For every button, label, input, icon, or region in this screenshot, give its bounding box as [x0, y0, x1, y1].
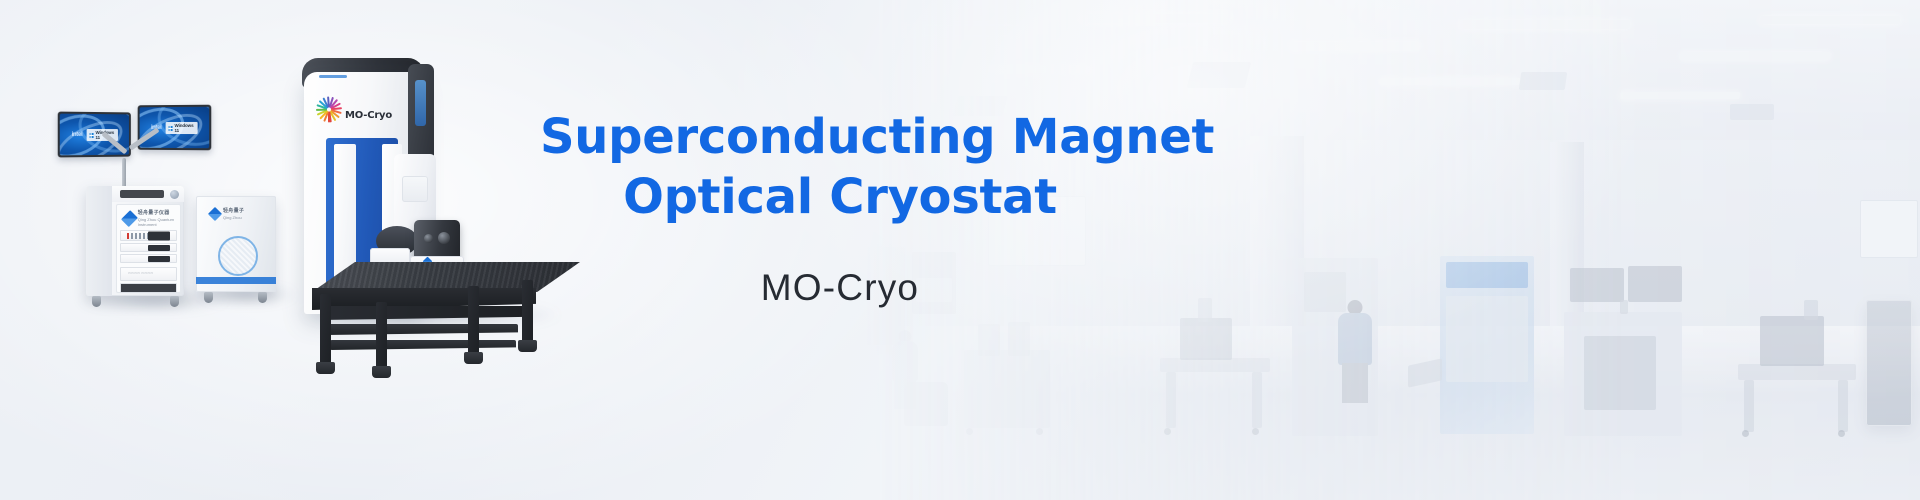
- cryostat-viewport-lens: [438, 232, 450, 244]
- rack-brand-logo: 轻舟量子仪器 Qing Zhou Quantum Instrument: [124, 210, 184, 228]
- headline-line-2: Optical Cryostat: [540, 168, 1140, 228]
- table-foot: [518, 340, 537, 352]
- rack-left-panel: [86, 186, 112, 296]
- instrument-window: [1584, 336, 1656, 410]
- rack-caster: [170, 296, 179, 307]
- unit-label: ▭▭▭▭ ▭▭▭▭: [128, 271, 153, 275]
- table-leg: [320, 294, 331, 368]
- table-leg: [1252, 372, 1262, 428]
- table-leg: [1744, 380, 1754, 432]
- chiller-caster: [204, 292, 213, 303]
- table-leg: [522, 280, 533, 346]
- chiller-brand-logo: 轻舟量子 Qing Zhou: [210, 208, 244, 220]
- technician: [1338, 300, 1372, 400]
- unit-display: [148, 256, 170, 262]
- company-diamond-icon: [208, 207, 222, 221]
- table-leg: [1838, 380, 1848, 432]
- rack-brand-text: 轻舟量子仪器 Qing Zhou Quantum Instrument: [138, 210, 184, 228]
- chiller-accent-band: [196, 277, 276, 284]
- lab-equipment: [1008, 322, 1030, 356]
- monitor-silhouette: [1628, 266, 1682, 302]
- cryostat-viewport-lens: [424, 234, 433, 243]
- rack-keyboard-tray: [120, 190, 164, 198]
- chiller-brand-cn: 轻舟量子: [223, 208, 244, 215]
- rack-instrument-unit: [120, 230, 177, 241]
- page-title: Superconducting Magnet Optical Cryostat: [540, 108, 1140, 227]
- wall-column: [1550, 142, 1584, 338]
- right-monitor-screen: intel Windows 11: [140, 107, 210, 149]
- table-rail: [326, 324, 518, 335]
- lab-equipment: [1198, 298, 1212, 322]
- table-leg: [468, 286, 479, 358]
- lab-equipment: [978, 324, 1000, 356]
- windows-logo-icon: [89, 133, 93, 138]
- unit-display: [148, 231, 170, 240]
- poster-banner: [1446, 262, 1528, 288]
- chiller-brand-text: 轻舟量子 Qing Zhou: [223, 208, 244, 220]
- unit-display: [148, 245, 170, 251]
- chiller-fan-grille: [218, 236, 258, 276]
- table-foot: [372, 366, 391, 378]
- product-banner: Superconducting Magnet Optical Cryostat …: [0, 0, 1920, 500]
- product-photo-group: intel Windows 11 intel Windows 11: [0, 0, 620, 500]
- rack-instrument-unit: [120, 254, 177, 263]
- chiller-caster: [258, 292, 267, 303]
- windows-badge-label: Windows 11: [174, 123, 194, 133]
- table-foot: [316, 362, 335, 374]
- machine-logo-text: MO-Cryo: [345, 110, 392, 121]
- office-chair: [904, 382, 948, 426]
- monitor-pole: [122, 158, 126, 188]
- windows-logo-icon: [168, 126, 172, 131]
- rack-instrument-unit: ▭▭▭▭ ▭▭▭▭: [120, 267, 177, 281]
- monitor-stand: [1620, 300, 1628, 314]
- rainbow-sunburst-icon: [316, 102, 342, 128]
- machine-arm-panel: [402, 176, 428, 202]
- lab-equipment: [1760, 316, 1824, 366]
- monitor-silhouette: [1570, 268, 1624, 302]
- instrument-rack: [1866, 300, 1912, 426]
- headline-block: Superconducting Magnet Optical Cryostat …: [540, 108, 1140, 309]
- intel-logo: intel: [72, 132, 83, 138]
- headline-line-1: Superconducting Magnet: [540, 109, 1214, 165]
- chiller-unit: 轻舟量子 Qing Zhou: [196, 196, 276, 292]
- table-leg: [1166, 372, 1176, 428]
- mo-cryo-machine: MO-Cryo: [290, 58, 570, 338]
- machine-logo-underline: [319, 75, 347, 78]
- unit-led-strip: [127, 233, 149, 239]
- company-diamond-icon: [121, 210, 138, 227]
- control-rack: 轻舟量子仪器 Qing Zhou Quantum Instrument ▭▭▭▭…: [86, 186, 184, 296]
- table-frame: [320, 306, 526, 320]
- optical-table: [1160, 358, 1270, 372]
- lab-bench: [1738, 364, 1856, 380]
- table-rail: [330, 340, 516, 350]
- chiller-brand-en: Qing Zhou: [223, 215, 242, 220]
- lab-equipment: [1180, 318, 1232, 360]
- rack-instrument-unit: [120, 283, 177, 293]
- machine-logo: MO-Cryo: [316, 102, 392, 128]
- rack-brand-en: Qing Zhou Quantum Instrument: [138, 217, 174, 227]
- whiteboard: [1860, 200, 1918, 258]
- rack-power-knob: [170, 190, 179, 199]
- table-foot: [464, 352, 483, 364]
- machine-indicator-strip: [415, 80, 426, 126]
- windows-badge: Windows 11: [165, 122, 197, 134]
- rack-brand-cn: 轻舟量子仪器: [138, 210, 184, 217]
- lab-equipment: [1804, 300, 1818, 320]
- table-leg: [376, 302, 387, 372]
- right-monitor: intel Windows 11: [138, 105, 212, 151]
- product-model-name: MO-Cryo: [540, 267, 1140, 309]
- rack-instrument-unit: [120, 243, 177, 252]
- rack-caster: [92, 296, 101, 307]
- poster-body: [1446, 296, 1528, 382]
- lab-bench: [964, 350, 1050, 428]
